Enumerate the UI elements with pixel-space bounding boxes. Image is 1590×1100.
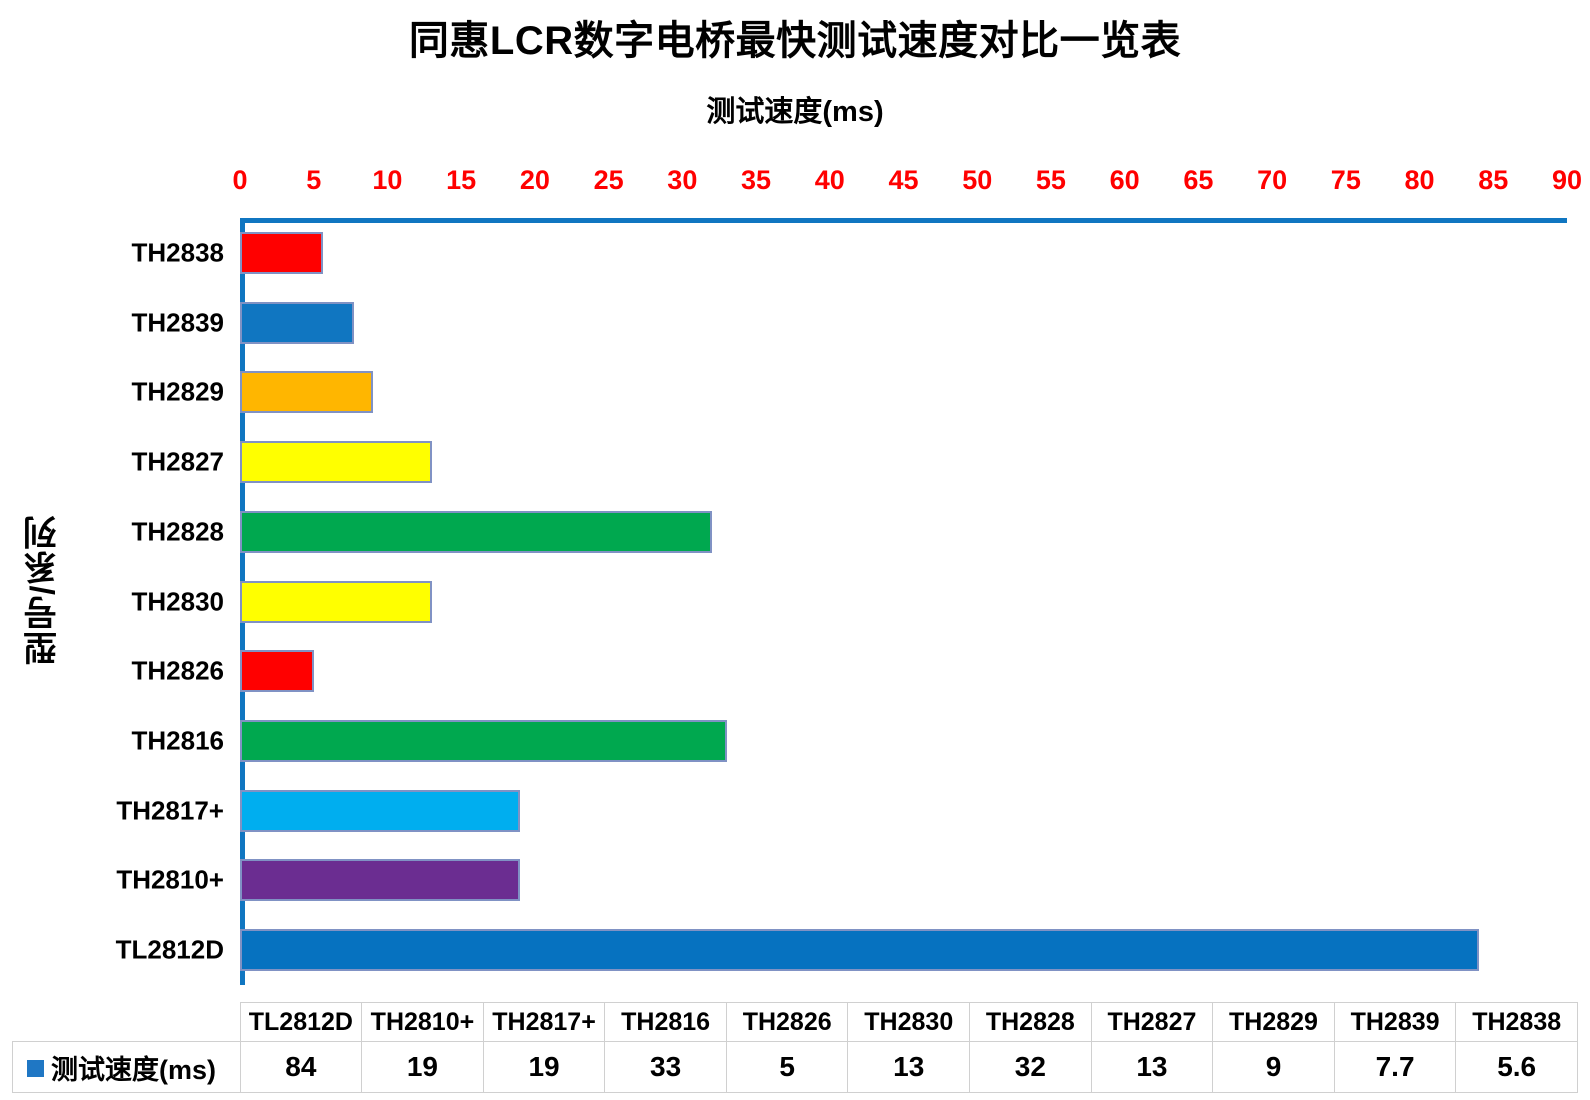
x-axis-tick-labels: 051015202530354045505560657075808590 <box>240 165 1567 207</box>
table-column-header: TH2826 <box>726 1003 848 1042</box>
x-tick-label: 5 <box>306 165 321 196</box>
table-cell-value: 33 <box>605 1042 727 1093</box>
y-tick-label: TH2817+ <box>116 795 224 826</box>
x-tick-label: 50 <box>962 165 992 196</box>
table-cell-value: 13 <box>1091 1042 1213 1093</box>
chart-page: 同惠LCR数字电桥最快测试速度对比一览表 测试速度(ms) 型号/系列 0510… <box>0 0 1590 1100</box>
x-tick-label: 60 <box>1110 165 1140 196</box>
x-tick-label: 25 <box>594 165 624 196</box>
x-tick-label: 55 <box>1036 165 1066 196</box>
y-tick-label: TH2829 <box>132 377 225 408</box>
bar-th2817plus <box>240 790 520 832</box>
y-tick-label: TH2827 <box>132 447 225 478</box>
x-tick-label: 20 <box>520 165 550 196</box>
y-tick-label: TH2828 <box>132 516 225 547</box>
bar-th2810plus <box>240 859 520 901</box>
legend-swatch-icon <box>27 1060 44 1077</box>
table-column-header: TH2817+ <box>483 1003 605 1042</box>
bar-th2816 <box>240 720 727 762</box>
y-tick-label: TH2826 <box>132 656 225 687</box>
table-column-header: TH2830 <box>848 1003 970 1042</box>
chart-title: 同惠LCR数字电桥最快测试速度对比一览表 <box>0 8 1590 66</box>
table-cell-value: 84 <box>240 1042 362 1093</box>
table-row-header-label: 测试速度(ms) <box>51 1055 216 1085</box>
x-axis-line <box>240 218 1567 223</box>
table-cell-value: 19 <box>362 1042 484 1093</box>
x-tick-label: 35 <box>741 165 771 196</box>
table-cell-value: 19 <box>483 1042 605 1093</box>
table-column-header: TL2812D <box>240 1003 362 1042</box>
y-tick-label: TH2810+ <box>116 865 224 896</box>
x-tick-label: 75 <box>1331 165 1361 196</box>
table-column-header: TH2828 <box>970 1003 1092 1042</box>
x-tick-label: 15 <box>446 165 476 196</box>
x-tick-label: 65 <box>1183 165 1213 196</box>
table-row-header: 测试速度(ms) <box>13 1042 241 1093</box>
y-tick-label: TH2816 <box>132 725 225 756</box>
y-tick-label: TH2838 <box>132 237 225 268</box>
table-cell-value: 5.6 <box>1456 1042 1578 1093</box>
x-tick-label: 0 <box>232 165 247 196</box>
x-tick-label: 40 <box>815 165 845 196</box>
x-tick-label: 80 <box>1405 165 1435 196</box>
x-tick-label: 30 <box>667 165 697 196</box>
bar-th2826 <box>240 650 314 692</box>
x-tick-label: 90 <box>1552 165 1582 196</box>
bar-th2830 <box>240 581 432 623</box>
table-column-header: TH2829 <box>1213 1003 1335 1042</box>
y-axis-category-labels: TH2838TH2839TH2829TH2827TH2828TH2830TH28… <box>60 218 232 985</box>
bar-th2827 <box>240 441 432 483</box>
bar-th2828 <box>240 511 712 553</box>
table-corner-cell <box>13 1003 241 1042</box>
table-column-header: TH2810+ <box>362 1003 484 1042</box>
table-column-header: TH2816 <box>605 1003 727 1042</box>
y-tick-label: TH2839 <box>132 307 225 338</box>
bar-th2839 <box>240 302 354 344</box>
table-cell-value: 13 <box>848 1042 970 1093</box>
table-cell-value: 32 <box>970 1042 1092 1093</box>
table-header-row: TL2812DTH2810+TH2817+TH2816TH2826TH2830T… <box>13 1003 1578 1042</box>
table-data-row: 测试速度(ms) 84191933513321397.75.6 <box>13 1042 1578 1093</box>
bar-th2829 <box>240 371 373 413</box>
table-column-header: TH2827 <box>1091 1003 1213 1042</box>
table-cell-value: 5 <box>726 1042 848 1093</box>
x-axis-title: 测试速度(ms) <box>0 88 1590 130</box>
bar-tl2812d <box>240 929 1479 971</box>
table-cell-value: 7.7 <box>1334 1042 1456 1093</box>
x-tick-label: 45 <box>888 165 918 196</box>
x-tick-label: 85 <box>1478 165 1508 196</box>
y-tick-label: TL2812D <box>116 935 224 966</box>
x-tick-label: 70 <box>1257 165 1287 196</box>
data-table: TL2812DTH2810+TH2817+TH2816TH2826TH2830T… <box>12 1002 1578 1093</box>
y-tick-label: TH2830 <box>132 586 225 617</box>
table-column-header: TH2839 <box>1334 1003 1456 1042</box>
plot-area <box>240 218 1567 985</box>
table-cell-value: 9 <box>1213 1042 1335 1093</box>
table-column-header: TH2838 <box>1456 1003 1578 1042</box>
x-tick-label: 10 <box>372 165 402 196</box>
bar-th2838 <box>240 232 323 274</box>
